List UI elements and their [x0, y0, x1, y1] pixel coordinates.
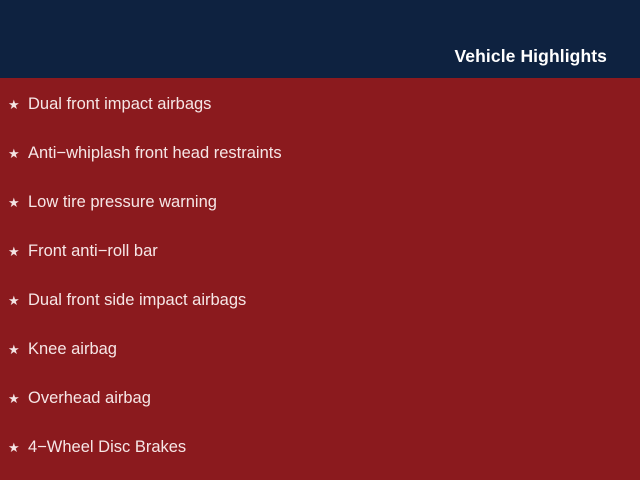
star-icon: ★ — [8, 196, 28, 209]
list-item-label: Dual front impact airbags — [28, 96, 211, 113]
list-item: ★ Low tire pressure warning — [0, 194, 640, 243]
list-item: ★ Dual front impact airbags — [0, 96, 640, 145]
star-icon: ★ — [8, 98, 28, 111]
slide-header: Vehicle Highlights — [0, 0, 640, 78]
highlights-list: ★ Dual front impact airbags ★ Anti−whipl… — [0, 96, 640, 480]
list-item-label: Overhead airbag — [28, 390, 151, 407]
star-icon: ★ — [8, 343, 28, 356]
list-item-label: Front anti−roll bar — [28, 243, 158, 260]
list-item: ★ 4−Wheel Disc Brakes — [0, 439, 640, 480]
star-icon: ★ — [8, 147, 28, 160]
star-icon: ★ — [8, 441, 28, 454]
star-icon: ★ — [8, 294, 28, 307]
star-icon: ★ — [8, 392, 28, 405]
list-item-label: 4−Wheel Disc Brakes — [28, 439, 186, 456]
list-item: ★ Knee airbag — [0, 341, 640, 390]
list-item-label: Knee airbag — [28, 341, 117, 358]
list-item-label: Low tire pressure warning — [28, 194, 217, 211]
vehicle-highlights-slide: Vehicle Highlights ★ Dual front impact a… — [0, 0, 640, 480]
list-item: ★ Anti−whiplash front head restraints — [0, 145, 640, 194]
page-title: Vehicle Highlights — [454, 48, 607, 66]
star-icon: ★ — [8, 245, 28, 258]
list-item: ★ Dual front side impact airbags — [0, 292, 640, 341]
list-item-label: Dual front side impact airbags — [28, 292, 246, 309]
list-item: ★ Front anti−roll bar — [0, 243, 640, 292]
highlights-panel: ★ Dual front impact airbags ★ Anti−whipl… — [0, 78, 640, 480]
list-item-label: Anti−whiplash front head restraints — [28, 145, 282, 162]
list-item: ★ Overhead airbag — [0, 390, 640, 439]
